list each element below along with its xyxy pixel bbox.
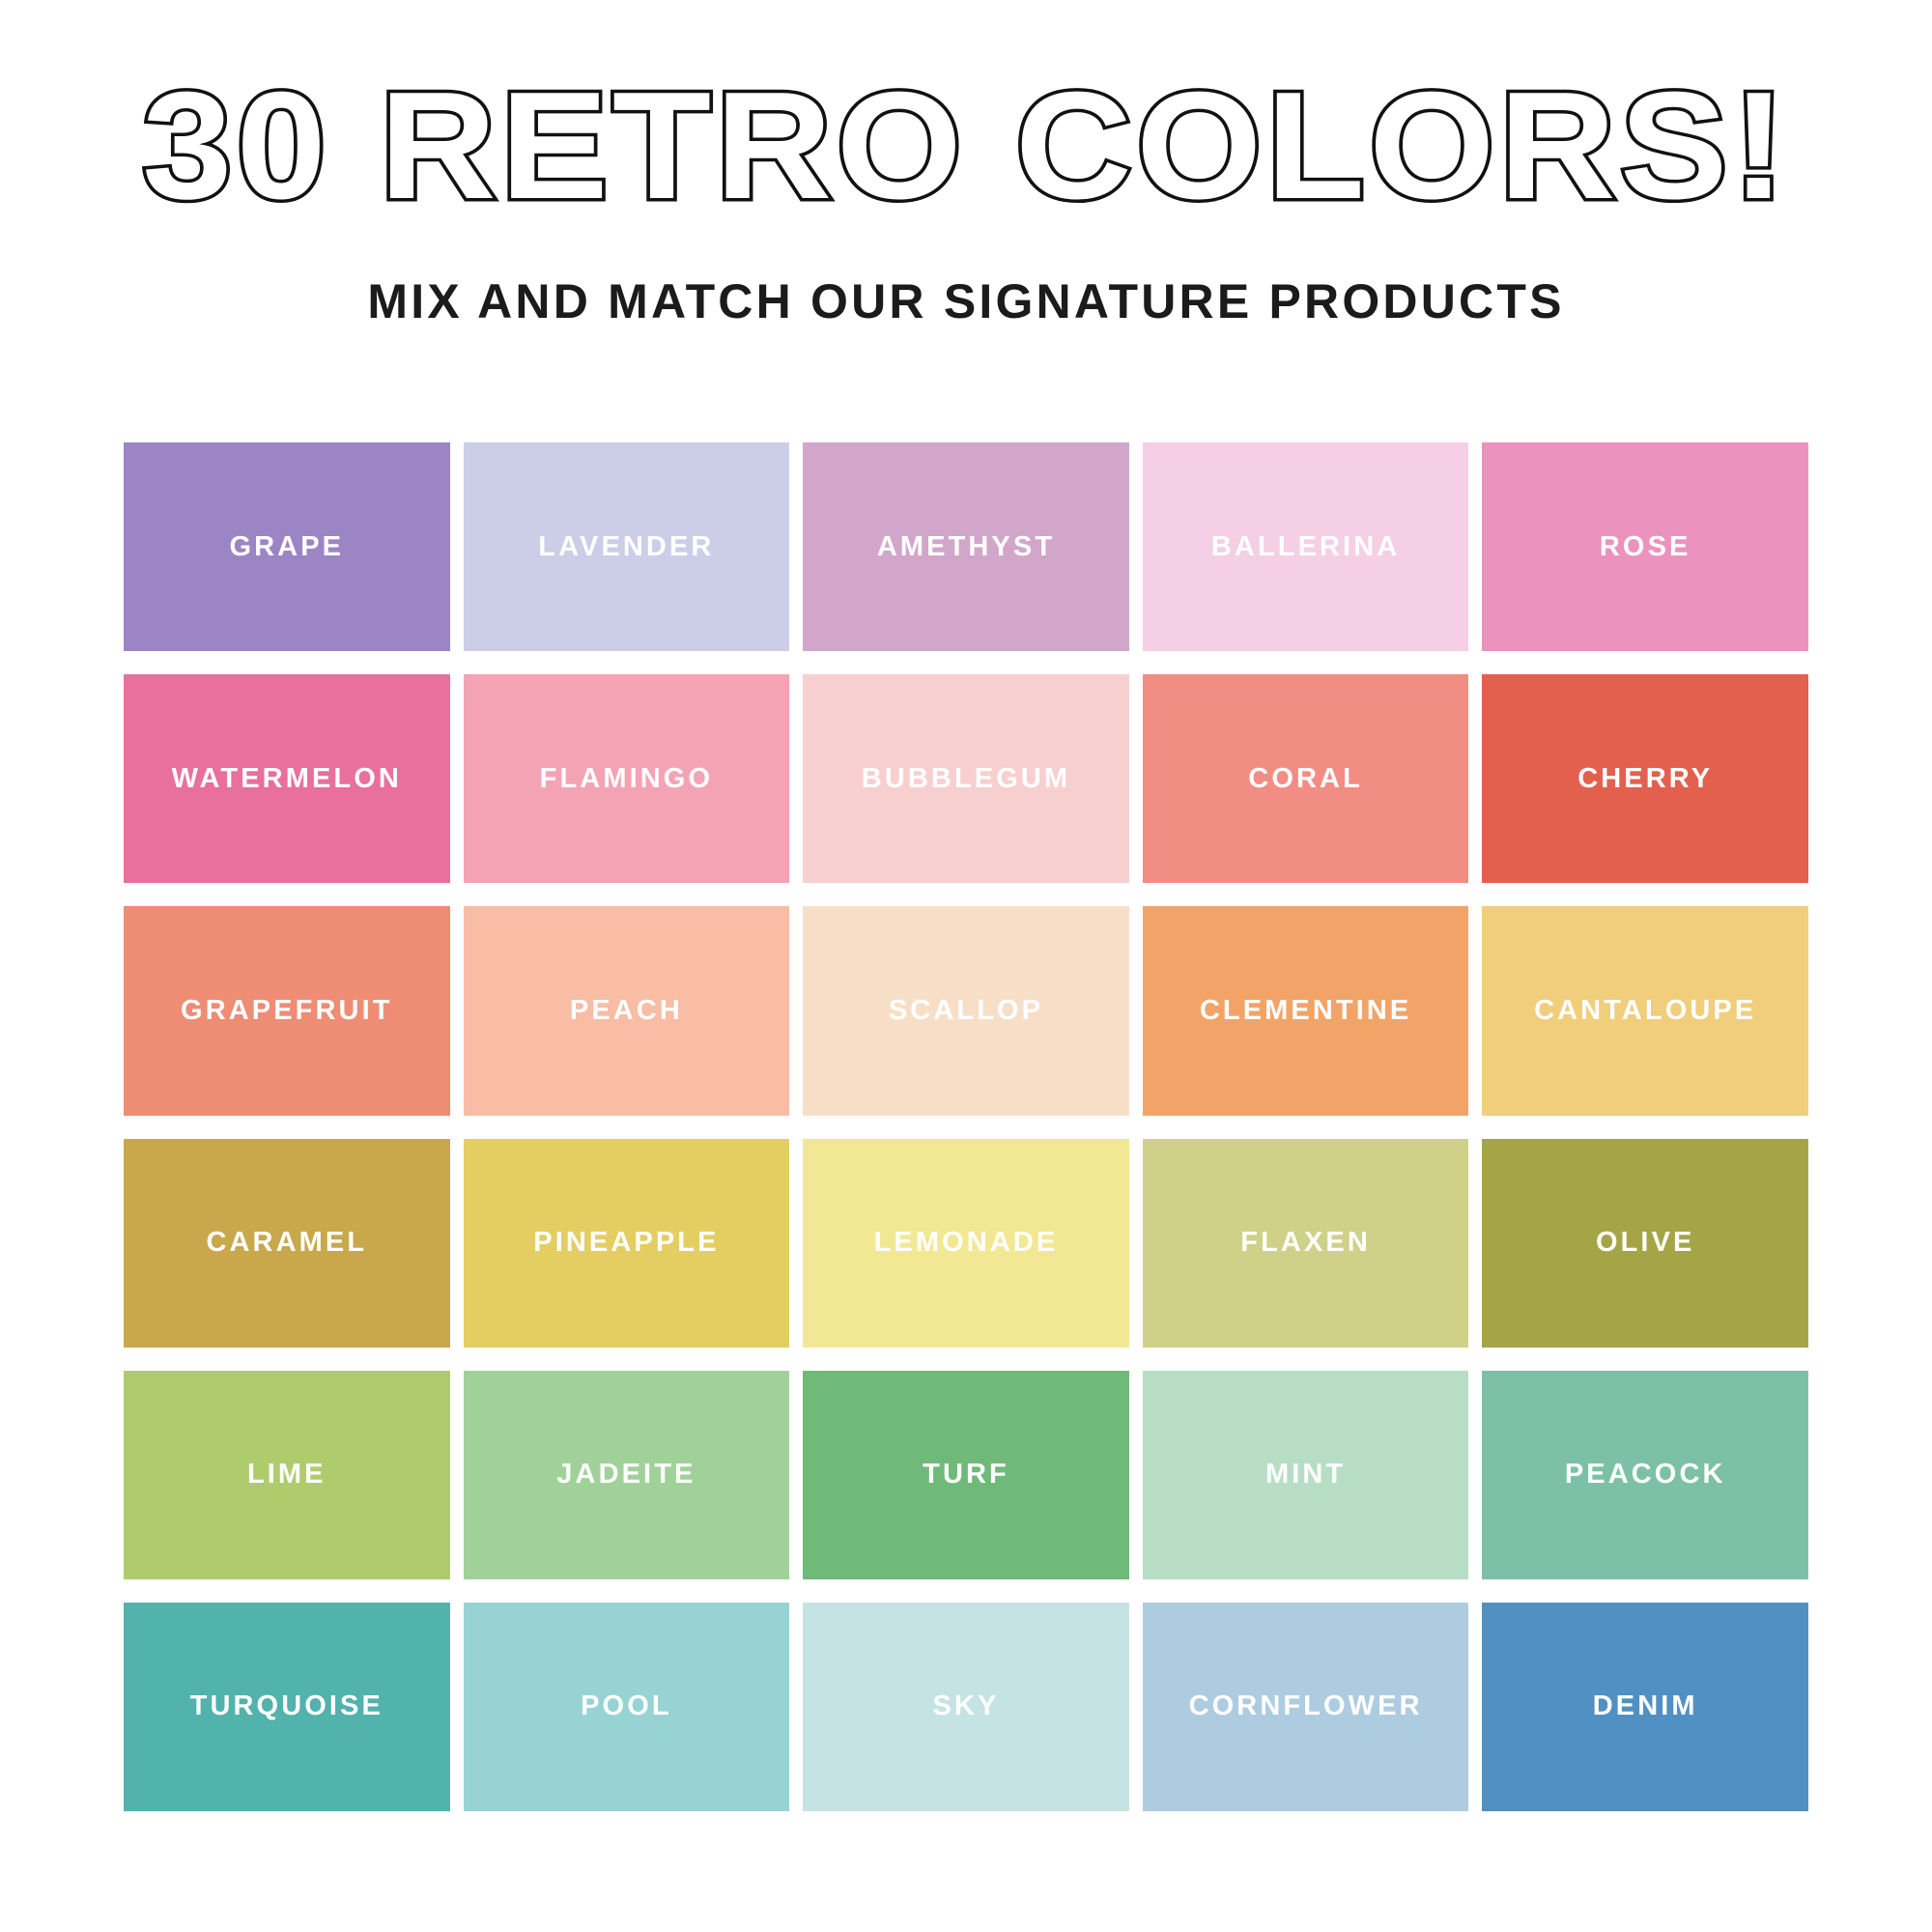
color-swatch[interactable]: TURF (803, 1371, 1129, 1579)
color-swatch-label: GRAPEFRUIT (181, 995, 393, 1027)
color-swatch[interactable]: CARAMEL (124, 1139, 450, 1348)
color-swatch[interactable]: GRAPE (124, 442, 450, 651)
color-swatch[interactable]: PEACOCK (1482, 1371, 1808, 1579)
color-swatch-label: PEACOCK (1565, 1459, 1726, 1491)
color-swatch[interactable]: ROSE (1482, 442, 1808, 651)
color-swatch-label: CARAMEL (206, 1227, 367, 1259)
color-swatch-label: AMETHYST (877, 531, 1055, 563)
color-swatch-label: BUBBLEGUM (862, 763, 1070, 795)
color-swatch[interactable]: BALLERINA (1143, 442, 1469, 651)
color-swatch-label: TURQUOISE (190, 1690, 384, 1722)
color-swatch[interactable]: SKY (803, 1603, 1129, 1811)
color-swatch-label: FLAXEN (1240, 1227, 1371, 1259)
color-swatch-label: CANTALOUPE (1534, 995, 1756, 1027)
color-swatch-grid: GRAPELAVENDERAMETHYSTBALLERINAROSEWATERM… (124, 442, 1808, 1811)
color-swatch-label: ROSE (1600, 531, 1691, 563)
color-swatch-label: SCALLOP (889, 995, 1043, 1027)
color-swatch[interactable]: LIME (124, 1371, 450, 1579)
color-swatch-label: PINEAPPLE (533, 1227, 719, 1259)
color-swatch[interactable]: CANTALOUPE (1482, 906, 1808, 1115)
color-swatch-label: LAVENDER (538, 531, 714, 563)
color-swatch-label: SKY (933, 1690, 1000, 1722)
color-swatch[interactable]: SCALLOP (803, 906, 1129, 1115)
color-swatch[interactable]: TURQUOISE (124, 1603, 450, 1811)
color-swatch[interactable]: LEMONADE (803, 1139, 1129, 1348)
color-swatch[interactable]: FLAXEN (1143, 1139, 1469, 1348)
color-swatch-label: POOL (581, 1690, 672, 1722)
color-swatch-label: FLAMINGO (540, 763, 713, 795)
color-swatch-label: CHERRY (1577, 763, 1713, 795)
color-swatch[interactable]: CORAL (1143, 674, 1469, 883)
color-swatch[interactable]: GRAPEFRUIT (124, 906, 450, 1115)
color-swatch[interactable]: OLIVE (1482, 1139, 1808, 1348)
color-swatch[interactable]: CHERRY (1482, 674, 1808, 883)
color-swatch-label: WATERMELON (172, 763, 402, 795)
color-swatch-label: LEMONADE (874, 1227, 1059, 1259)
color-swatch[interactable]: BUBBLEGUM (803, 674, 1129, 883)
color-swatch-label: CORAL (1248, 763, 1363, 795)
color-swatch-label: CLEMENTINE (1200, 995, 1412, 1027)
color-swatch[interactable]: PINEAPPLE (464, 1139, 790, 1348)
color-swatch[interactable]: MINT (1143, 1371, 1469, 1579)
color-swatch-label: JADEITE (556, 1459, 696, 1491)
color-swatch-label: PEACH (570, 995, 683, 1027)
color-swatch[interactable]: LAVENDER (464, 442, 790, 651)
color-swatch-label: DENIM (1593, 1690, 1698, 1722)
color-swatch-label: BALLERINA (1211, 531, 1400, 563)
color-swatch[interactable]: FLAMINGO (464, 674, 790, 883)
color-swatch-label: GRAPE (229, 531, 344, 563)
color-swatch-label: TURF (923, 1459, 1009, 1491)
page-title: 30 RETRO COLORS! (0, 70, 1932, 222)
color-swatch[interactable]: PEACH (464, 906, 790, 1115)
color-swatch[interactable]: WATERMELON (124, 674, 450, 883)
color-swatch-label: CORNFLOWER (1189, 1690, 1423, 1722)
page-subtitle: MIX AND MATCH OUR SIGNATURE PRODUCTS (0, 277, 1932, 326)
color-swatch-label: LIME (247, 1459, 327, 1491)
color-swatch-label: OLIVE (1596, 1227, 1695, 1259)
color-swatch[interactable]: CLEMENTINE (1143, 906, 1469, 1115)
color-swatch[interactable]: AMETHYST (803, 442, 1129, 651)
color-swatch[interactable]: JADEITE (464, 1371, 790, 1579)
color-swatch[interactable]: CORNFLOWER (1143, 1603, 1469, 1811)
color-swatch[interactable]: DENIM (1482, 1603, 1808, 1811)
color-swatch[interactable]: POOL (464, 1603, 790, 1811)
color-swatch-label: MINT (1265, 1459, 1346, 1491)
